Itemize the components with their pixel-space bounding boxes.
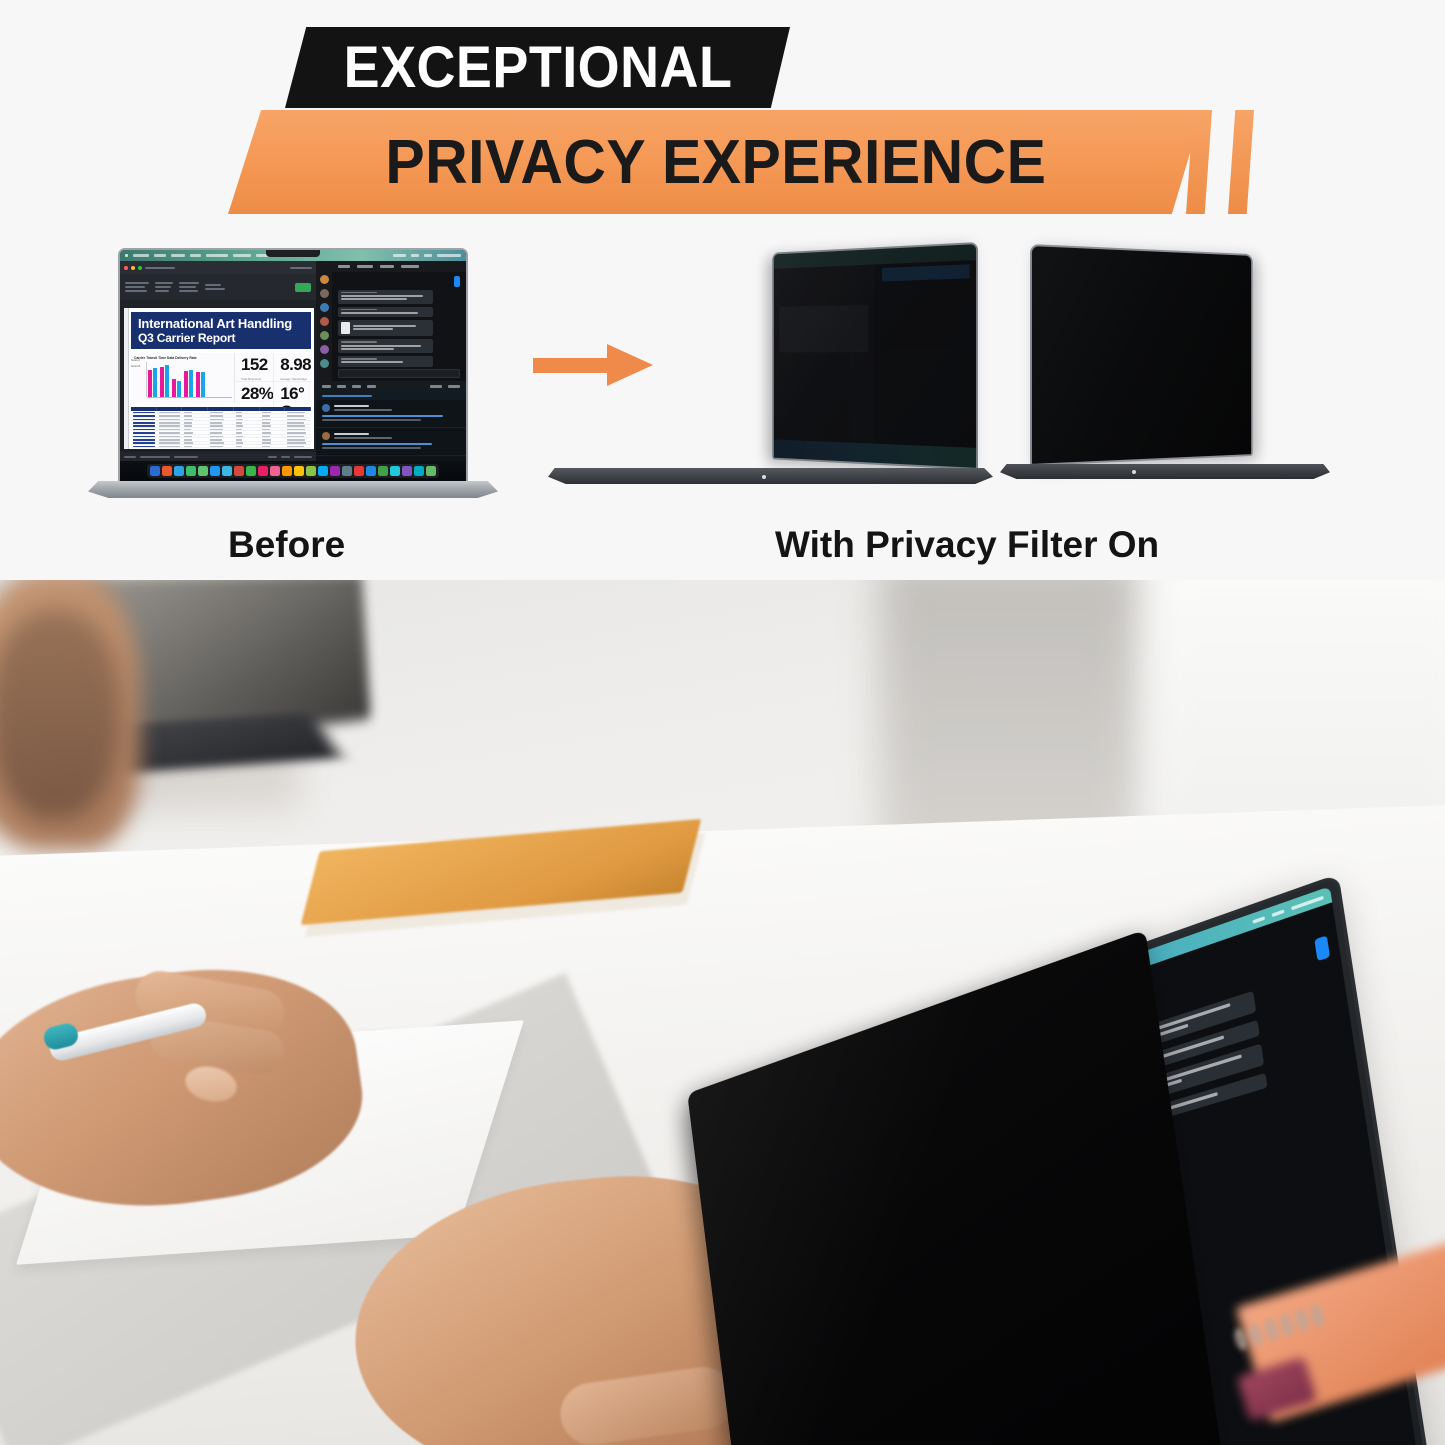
product-marketing-image: EXCEPTIONAL PRIVACY EXPERIENCE [0,0,1445,1445]
message-bubble-sent [1314,935,1330,961]
toolbar-icon[interactable] [352,385,361,388]
decorative-slash-2 [1228,110,1254,214]
before-laptop: International Art Handling Q3 Carrier Re… [88,248,498,508]
dock-app-icon[interactable] [198,466,208,476]
menu-item[interactable] [206,254,228,257]
message-bubble-sent [454,276,460,287]
dock-app-icon[interactable] [378,466,388,476]
data-table[interactable] [131,407,311,447]
background-person-arm-shadow [0,610,120,820]
dock-app-icon[interactable] [390,466,400,476]
chat-tab[interactable] [380,265,394,268]
right-windows [316,261,466,461]
report-title-line2: Q3 Carrier Report [138,331,304,345]
avatar[interactable] [320,289,329,298]
headline-line-2: PRIVACY EXPERIENCE [385,127,1046,198]
toolbar-icon[interactable] [337,385,346,388]
privacy-filter-screen [772,242,978,470]
caption-after: With Privacy Filter On [775,524,1159,566]
privacy-filter-laptop-front [548,242,993,510]
faint-screen-content [774,244,976,468]
spreadsheet-ribbon[interactable] [120,274,316,300]
ribbon-group-align[interactable] [155,282,173,292]
chat-tab[interactable] [357,265,373,268]
headline-black-bar: EXCEPTIONAL [285,27,790,108]
mustard-notebook [315,835,695,925]
table-row [131,448,311,449]
dock-app-icon[interactable] [294,466,304,476]
chat-toolbar[interactable] [332,261,466,272]
mail-message[interactable] [316,400,466,428]
toolbar-meta [290,267,312,269]
message-bubble [338,339,433,353]
kpi-value: 152 [241,356,273,374]
bar-group [160,365,169,398]
report-header: International Art Handling Q3 Carrier Re… [131,312,311,349]
avatar[interactable] [320,275,329,284]
headline-orange-bar: PRIVACY EXPERIENCE [228,110,1203,214]
status-item[interactable] [393,254,406,257]
chat-tab[interactable] [338,265,350,268]
dock-app-icon[interactable] [246,466,256,476]
bar-group [196,372,205,398]
toolbar-icon[interactable] [430,385,442,388]
y-axis [146,362,147,397]
toolbar-icon[interactable] [448,385,460,388]
chat-tab[interactable] [401,265,419,268]
notch [266,250,320,257]
message-bubble [338,290,433,304]
avatar [322,404,330,412]
message-bubble [338,356,433,367]
chat-window [316,261,466,381]
chat-conversation [332,261,466,381]
dock-app-icon[interactable] [366,466,376,476]
caption-before: Before [228,524,345,566]
comparison-panel: EXCEPTIONAL PRIVACY EXPERIENCE [0,0,1445,580]
sleep-indicator [762,475,766,479]
x-axis [147,397,232,398]
spreadsheet-canvas[interactable]: International Art Handling Q3 Carrier Re… [124,308,314,449]
avatar [322,432,330,440]
file-icon [341,322,350,334]
privacy-laptop-base [1000,464,1330,479]
report-body: Carrier Transit Time Data Delivery Rate … [131,353,311,403]
avatar[interactable] [320,359,329,368]
menu-item[interactable] [190,254,201,257]
kpi-value: 28% [241,385,273,403]
bar-group [172,379,181,398]
battery-icon[interactable] [424,254,432,257]
dock-app-icon[interactable] [318,466,328,476]
lifestyle-photo: escF1F2F3F4F5F6F7F8F9F10F11F12~123456789… [0,580,1445,1445]
dock-app-icon[interactable] [174,466,184,476]
privacy-filter-laptop-side [1000,244,1330,506]
before-laptop-screen: International Art Handling Q3 Carrier Re… [118,248,468,483]
avatar[interactable] [320,331,329,340]
apple-menu-icon[interactable] [125,254,128,257]
mail-window [316,381,466,461]
kpi-card: 8.98Average Transit Days [273,353,311,381]
chat-message-input[interactable] [338,369,460,378]
dock-app-icon[interactable] [234,466,244,476]
kpi-value: 8.98 [280,356,311,374]
dock-app-icon[interactable] [222,466,232,476]
mail-toolbar[interactable] [316,381,466,392]
message-bubble [338,307,433,318]
bar-group [148,368,157,398]
before-after-row: International Art Handling Q3 Carrier Re… [0,236,1445,526]
privacy-filter-screen-black [1030,244,1253,466]
column-headers [120,300,316,307]
privacy-laptop-base [548,468,993,484]
toolbar-icon[interactable] [367,385,376,388]
dock-app-icon[interactable] [186,466,196,476]
dock-app-icon[interactable] [270,466,280,476]
spreadsheet-statusbar [120,452,316,461]
message-list [332,272,466,371]
dock-app-icon[interactable] [258,466,268,476]
chat-avatar-rail[interactable] [316,261,332,381]
spreadsheet-window: International Art Handling Q3 Carrier Re… [120,261,316,461]
dock-app-icon[interactable] [282,466,292,476]
bar-chart: Carrier Transit Time Data Delivery Rate … [131,353,234,403]
report-title-line1: International Art Handling [138,316,304,331]
chart-title: Carrier Transit Time Data Delivery Rate [134,356,232,360]
dock-app-icon[interactable] [354,466,364,476]
dock-app-icon[interactable] [306,466,316,476]
headline-line-1: EXCEPTIONAL [343,34,732,101]
menu-item[interactable] [154,254,166,257]
before-desktop: International Art Handling Q3 Carrier Re… [120,250,466,481]
ribbon-group-styles[interactable] [205,284,225,290]
dock-app-icon[interactable] [414,466,424,476]
avatar[interactable] [320,317,329,326]
macos-dock[interactable] [120,461,466,481]
menu-item[interactable] [233,254,251,257]
dock-app-icon[interactable] [150,466,160,476]
share-button[interactable] [295,283,311,292]
doc-title [145,267,175,269]
menu-item[interactable] [171,254,185,257]
ribbon-group-number[interactable] [179,282,199,292]
close-icon[interactable] [124,266,128,270]
minimize-icon[interactable] [131,266,135,270]
dock-app-icon[interactable] [330,466,340,476]
sleep-indicator [1132,470,1136,474]
dock-app-icon[interactable] [426,466,436,476]
chart-plot-area [134,362,232,398]
dock-app-icon[interactable] [210,466,220,476]
mail-message[interactable] [316,428,466,456]
dock-app-icon[interactable] [342,466,352,476]
dock-app-icon[interactable] [402,466,412,476]
mail-subject [316,392,466,400]
menu-item[interactable] [133,254,149,257]
avatar[interactable] [320,345,329,354]
orange-spiral-notebook [1248,1270,1445,1420]
ribbon-group-font[interactable] [125,282,149,292]
clock[interactable] [437,254,461,257]
toolbar-icon[interactable] [322,385,331,388]
message-bubble-attachment[interactable] [338,320,433,336]
headline-banner: EXCEPTIONAL PRIVACY EXPERIENCE [0,0,1445,235]
maximize-icon[interactable] [138,266,142,270]
avatar[interactable] [320,303,329,312]
row-headers [124,308,129,449]
spreadsheet-titlebar [120,261,316,274]
dock-items[interactable] [147,464,439,478]
bar-group [184,370,193,398]
kpi-grid: 152Total Shipments 8.98Average Transit D… [234,353,311,403]
dock-app-icon[interactable] [162,466,172,476]
kpi-card: 152Total Shipments [235,353,273,381]
before-laptop-base [88,481,498,498]
wifi-icon[interactable] [411,254,419,257]
